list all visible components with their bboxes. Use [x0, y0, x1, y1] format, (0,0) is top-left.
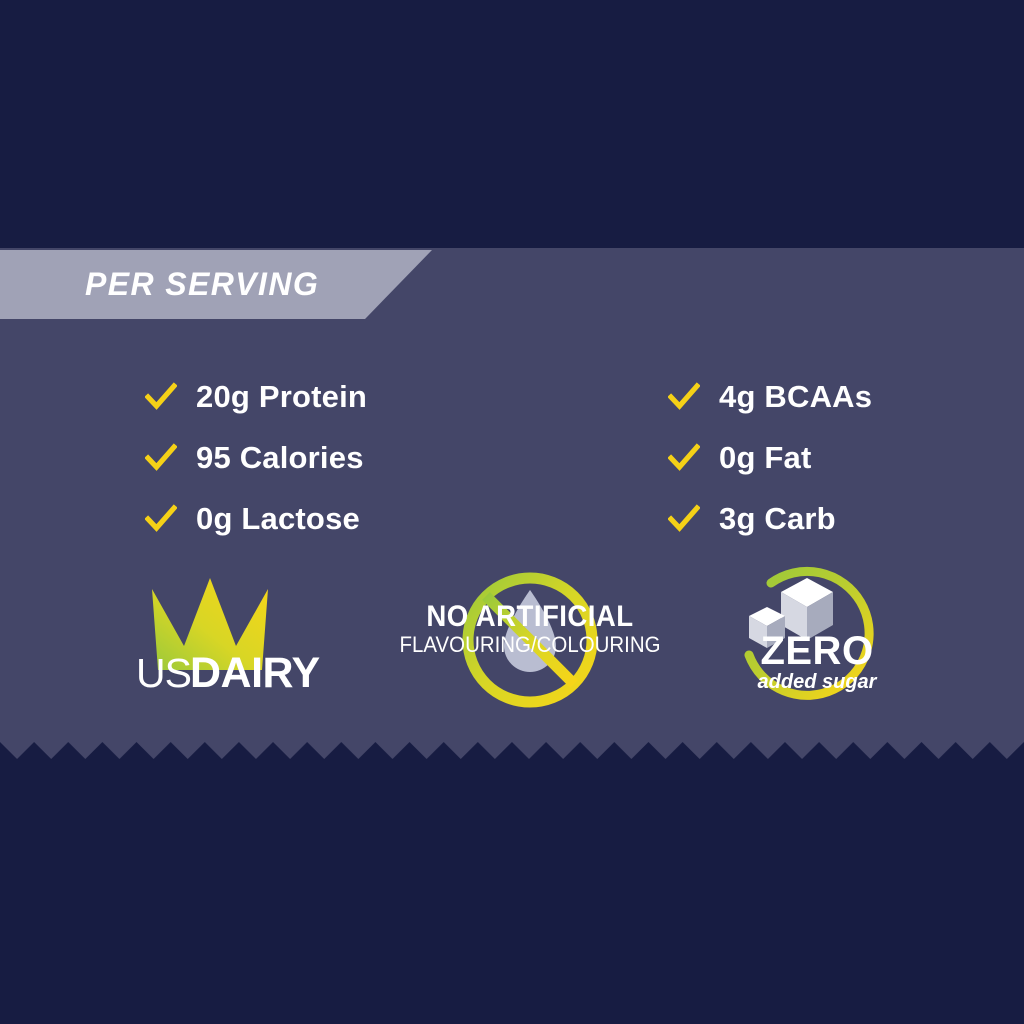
nutrition-item: 20g Protein	[145, 366, 367, 427]
svg-text:NO ARTIFICIAL: NO ARTIFICIAL	[426, 600, 633, 633]
nutrition-list-left: 20g Protein 95 Calories 0g Lactose	[145, 366, 367, 549]
nutrition-item-label: 20g Protein	[196, 379, 367, 415]
nutrition-item-label: 3g Carb	[719, 501, 836, 537]
nutrition-item-label: 95 Calories	[196, 440, 364, 476]
check-icon	[668, 503, 700, 535]
nutrition-item: 3g Carb	[668, 488, 872, 549]
nutrition-item-label: 4g BCAAs	[719, 379, 872, 415]
nutrition-item: 4g BCAAs	[668, 366, 872, 427]
svg-text:US: US	[136, 650, 191, 696]
badge-no-artificial: NO ARTIFICIAL FLAVOURING/COLOURING NO AR…	[400, 560, 660, 720]
nutrition-panel-screenshot: PER SERVING 20g Protein 95 Calories 0g L…	[0, 0, 1024, 1024]
nutrition-item: 95 Calories	[145, 427, 367, 488]
svg-text:ZERO: ZERO	[760, 629, 873, 673]
zigzag-bottom-edge	[0, 742, 1024, 776]
certification-badges: US DAIRY US DAIRY	[0, 560, 1024, 720]
check-icon	[668, 381, 700, 413]
check-icon	[145, 381, 177, 413]
svg-text:added sugar: added sugar	[758, 671, 878, 693]
nutrition-item-label: 0g Fat	[719, 440, 812, 476]
nutrition-list-right: 4g BCAAs 0g Fat 3g Carb	[668, 366, 872, 549]
svg-text:DAIRY: DAIRY	[190, 649, 320, 697]
svg-text:FLAVOURING/COLOURING: FLAVOURING/COLOURING	[400, 632, 660, 657]
check-icon	[145, 442, 177, 474]
nutrition-item: 0g Lactose	[145, 488, 367, 549]
badge-zero-added-sugar: ZERO added sugar ZERO added sugar	[725, 560, 900, 720]
nutrition-item-label: 0g Lactose	[196, 501, 360, 537]
per-serving-banner: PER SERVING	[0, 250, 432, 319]
check-icon	[145, 503, 177, 535]
badge-us-dairy: US DAIRY US DAIRY	[130, 560, 350, 720]
per-serving-label: PER SERVING	[85, 266, 319, 303]
nutrition-item: 0g Fat	[668, 427, 872, 488]
check-icon	[668, 442, 700, 474]
